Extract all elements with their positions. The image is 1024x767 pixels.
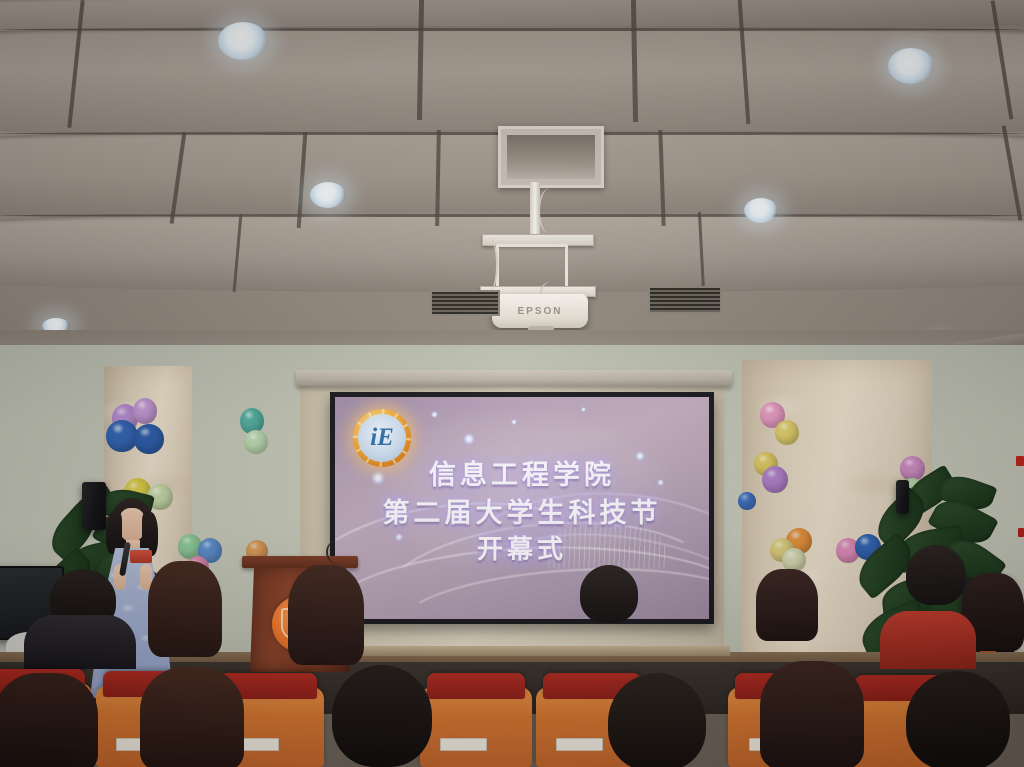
- auditorium-photo: EPSON: [0, 0, 1024, 767]
- balloon: [762, 466, 788, 493]
- projector-body: EPSON: [492, 294, 588, 328]
- seat-number-label: [440, 738, 487, 751]
- audience-torso: [880, 611, 976, 669]
- speaker-pole: [896, 480, 909, 514]
- projection-screen-frame: iE 信息工程学院 第二届大学生科技节 开幕式: [330, 392, 714, 624]
- wall-air-grille-right: [648, 286, 722, 314]
- screen-title-line-3: 开幕式: [335, 529, 709, 566]
- ceiling-downlight: [888, 48, 934, 84]
- ceiling-air-vent: [498, 126, 604, 188]
- ceiling-downlight: [310, 182, 346, 208]
- balloon: [133, 398, 157, 424]
- seat-number-label: [556, 738, 603, 751]
- sparkle: [511, 419, 517, 425]
- projection-screen: iE 信息工程学院 第二届大学生科技节 开幕式: [335, 397, 709, 619]
- screen-title-line-1: 信息工程学院: [335, 453, 709, 492]
- audience-head: [288, 565, 364, 665]
- sparkle: [581, 407, 586, 412]
- balloon: [775, 420, 799, 445]
- screen-title-line-2: 第二届大学生科技节: [335, 491, 709, 530]
- host-hair-side-left: [106, 512, 122, 554]
- audience-head: [140, 667, 244, 767]
- balloon: [244, 430, 268, 454]
- balloon: [738, 492, 756, 510]
- ceiling-downlight: [218, 22, 268, 60]
- audience-head: [580, 565, 638, 623]
- sparkle: [463, 433, 475, 445]
- sparkle: [431, 411, 438, 418]
- audience-head: [332, 665, 432, 767]
- auditorium-seat[interactable]: [420, 687, 532, 767]
- balloon: [134, 424, 164, 454]
- ceiling-downlight: [744, 198, 778, 223]
- audience-head: [0, 673, 98, 767]
- wall-air-grille-left: [430, 290, 500, 316]
- seat-cushion: [427, 673, 526, 699]
- projection-screen-housing: [296, 370, 732, 386]
- audience-head: [906, 671, 1010, 767]
- projector-brand-label: EPSON: [517, 306, 562, 317]
- audience-head: [148, 561, 222, 657]
- audience-head: [608, 673, 706, 767]
- audience-head: [756, 569, 818, 641]
- audience-torso: [24, 615, 136, 669]
- podium-microphone: [326, 540, 350, 564]
- audience-head: [906, 545, 966, 605]
- audience-seating: [0, 637, 1024, 767]
- exit-indicator-upper: [1016, 456, 1024, 466]
- host-cue-card: [130, 550, 152, 563]
- exit-indicator-lower: [1018, 528, 1024, 537]
- ceiling-projector: EPSON: [452, 182, 592, 352]
- audience-head: [760, 661, 864, 767]
